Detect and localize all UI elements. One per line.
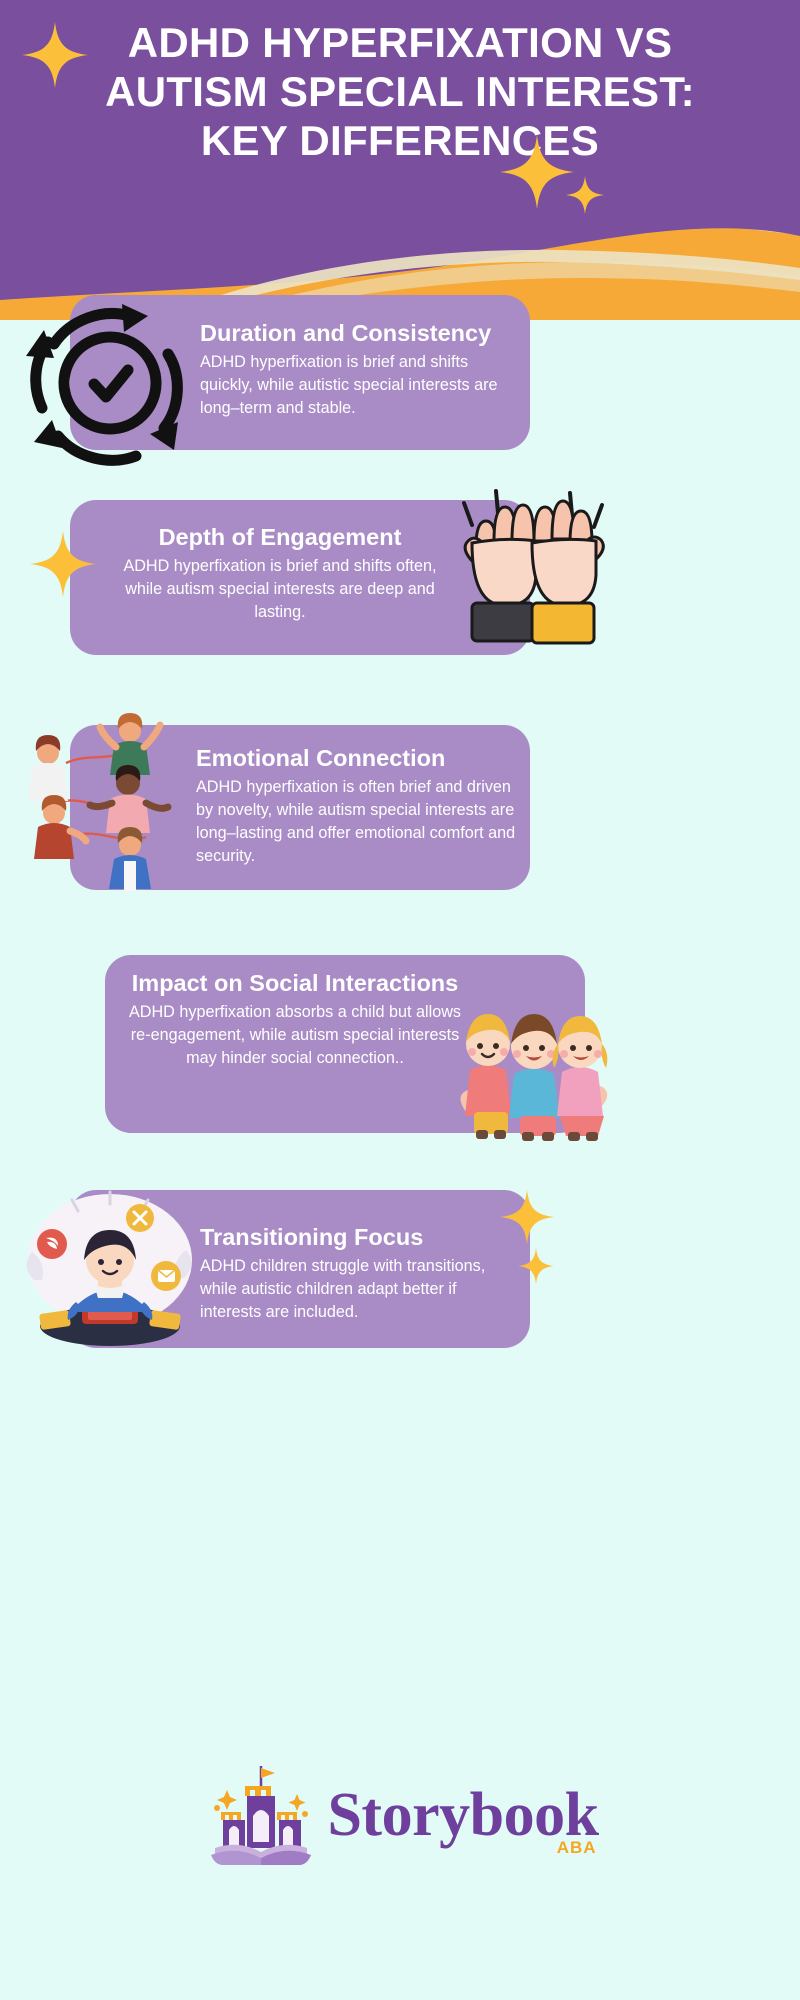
sparkle-icon [566, 176, 604, 214]
card-body: ADHD hyperfixation absorbs a child but a… [125, 1001, 465, 1070]
card-text-depth-of-engagement: Depth of Engagement ADHD hyperfixation i… [110, 522, 450, 624]
three-children-icon [450, 1000, 620, 1145]
logo-subtext: ABA [557, 1838, 597, 1858]
card-body: ADHD children struggle with transitions,… [200, 1255, 518, 1324]
sparkle-icon [500, 1190, 554, 1244]
card-title: Transitioning Focus [200, 1222, 518, 1252]
page-title: ADHD HYPERFIXATION VS AUTISM SPECIAL INT… [0, 18, 800, 165]
card-body: ADHD hyperfixation is often brief and dr… [196, 776, 518, 868]
card-text-impact-on-social-interactions: Impact on Social Interactions ADHD hyper… [125, 968, 465, 1070]
page-title-wrap: ADHD HYPERFIXATION VS AUTISM SPECIAL INT… [0, 18, 800, 165]
card-text-emotional-connection: Emotional Connection ADHD hyperfixation … [196, 743, 518, 868]
sparkle-icon [500, 135, 574, 209]
card-title: Emotional Connection [196, 743, 518, 773]
card-body: ADHD hyperfixation is brief and shifts q… [200, 351, 518, 420]
refresh-clock-check-icon [18, 288, 196, 473]
logo-wordmark: Storybook [327, 1784, 598, 1846]
sparkle-icon [22, 22, 88, 88]
raised-hands-high-five-icon [450, 485, 615, 660]
card-text-duration-and-consistency: Duration and Consistency ADHD hyperfixat… [200, 318, 518, 420]
boy-at-desk-icon [14, 1180, 204, 1352]
card-title: Duration and Consistency [200, 318, 518, 348]
card-text-transitioning-focus: Transitioning Focus ADHD children strugg… [200, 1222, 518, 1324]
card-title: Depth of Engagement [110, 522, 450, 552]
logo-text-wrap: Storybook ABA [327, 1784, 598, 1846]
people-connection-icon [20, 705, 200, 895]
card-body: ADHD hyperfixation is brief and shifts o… [110, 555, 450, 624]
logo-row: Storybook ABA [201, 1760, 598, 1870]
castle-on-book-icon [201, 1760, 321, 1870]
brand-logo[interactable]: Storybook ABA [0, 1760, 800, 1875]
card-title: Impact on Social Interactions [125, 968, 465, 998]
header-banner: ADHD HYPERFIXATION VS AUTISM SPECIAL INT… [0, 0, 800, 320]
sparkle-icon [518, 1248, 554, 1284]
sparkle-icon [30, 531, 96, 597]
